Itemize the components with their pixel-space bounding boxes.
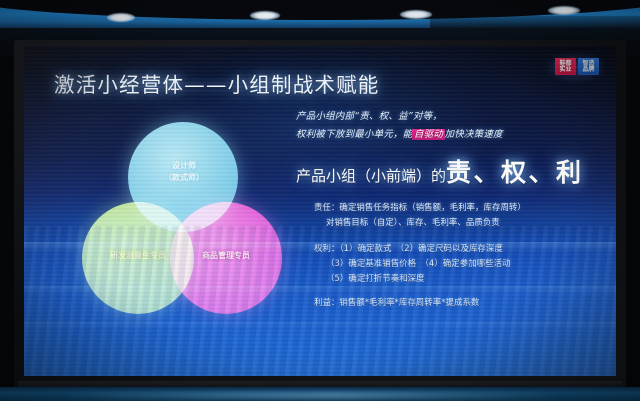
responsibility-line-2: 对销售目标（自定）、库存、毛利率、品质负责 (296, 215, 604, 230)
lead-paragraph: 产品小组内部“责、权、益”对等， 权利被下放到最小单元，能自驱动加快决策速度 (296, 108, 604, 144)
logo-blue-bottom-text: 品牌 (582, 67, 594, 73)
slide-title: 激活小经营体——小组制战术赋能 (54, 68, 380, 98)
rights-line-1: 权利：（1）确定款式 （2）确定尺码以及库存深度 (296, 241, 604, 256)
section-benefit: 利益：销售额*毛利率*库存周转率*提成系数 (296, 295, 604, 310)
section-rights: 权利：（1）确定款式 （2）确定尺码以及库存深度 （3）确定基准销售价格 （4）… (296, 241, 604, 287)
slide-headline: 产品小组（小前端）的责、权、利 (296, 153, 604, 189)
logo-blue-badge: 智造 品牌 (578, 58, 599, 75)
benefit-line-1: 利益：销售额*毛利率*库存周转率*提成系数 (296, 295, 604, 310)
logo-red-badge: 鞋都 实业 (555, 58, 576, 75)
logo-red-bottom-text: 实业 (559, 67, 571, 73)
lead-line-2-after: 加快决策速度 (445, 129, 503, 140)
rights-line-3: （5）确定打折节奏和深度 (296, 271, 604, 286)
lead-highlight: 自驱动 (412, 129, 444, 140)
ceiling-light-2 (250, 11, 280, 20)
responsibility-line-1: 责任：确定销售任务指标（销售额，毛利率，库存周转） (296, 200, 604, 215)
lead-line-2: 权利被下放到最小单元，能自驱动加快决策速度 (296, 126, 604, 144)
slide-text-column: 产品小组内部“责、权、益”对等， 权利被下放到最小单元，能自驱动加快决策速度 产… (296, 108, 604, 310)
brand-logo: 鞋都 实业 智造 品牌 (555, 58, 599, 75)
venn-diagram: 设计师 （款式师） 研发测量生专员 商品管理专员 (78, 122, 278, 312)
venn-circle-merchandising (170, 202, 282, 314)
lead-line-1: 产品小组内部“责、权、益”对等， (296, 108, 604, 126)
display-screen: 激活小经营体——小组制战术赋能 鞋都 实业 智造 品牌 设计师 （款式师） 研发… (24, 46, 616, 376)
scan-band-3 (24, 322, 616, 328)
ceiling-light-1 (107, 13, 135, 22)
ceiling-light-4 (548, 6, 580, 15)
headline-emphasis: 责、权、利 (446, 158, 584, 187)
lead-line-2-before: 权利被下放到最小单元，能 (296, 129, 412, 140)
ceiling-light-3 (400, 10, 432, 19)
headline-prefix: 产品小组（小前端）的 (296, 167, 446, 185)
rights-line-2: （3）确定基准销售价格 （4）确定参加哪些活动 (296, 256, 604, 271)
section-responsibility: 责任：确定销售任务指标（销售额，毛利率，库存周转） 对销售目标（自定）、库存、毛… (296, 200, 604, 231)
floor-reflection (60, 392, 560, 399)
led-screen-photo: 激活小经营体——小组制战术赋能 鞋都 实业 智造 品牌 设计师 （款式师） 研发… (0, 0, 640, 401)
